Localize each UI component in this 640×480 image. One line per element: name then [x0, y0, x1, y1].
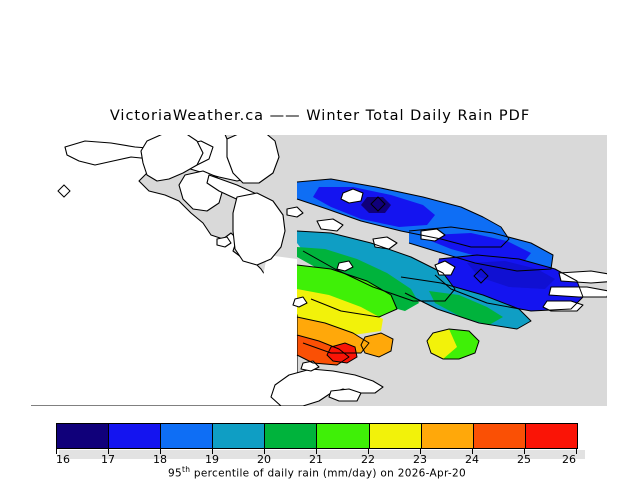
colorbar-ticks: 1617181920212223242526 [56, 449, 578, 463]
colorbar-legend: 1617181920212223242526 95th percentile o… [56, 423, 584, 480]
colorbar-swatch-25-26[interactable] [526, 424, 577, 448]
page-root: VictoriaWeather.ca —— Winter Total Daily… [0, 0, 640, 480]
colorbar-swatch-23-24[interactable] [422, 424, 474, 448]
page-title: VictoriaWeather.ca —— Winter Total Daily… [0, 108, 640, 124]
caption-rest: percentile of daily rain (mm/day) on 202… [190, 468, 466, 480]
colorbar-swatch-16-17[interactable] [57, 424, 109, 448]
colorbar-swatch-18-19[interactable] [161, 424, 213, 448]
colorbar-swatch-17-18[interactable] [109, 424, 161, 448]
weather-map-panel[interactable] [31, 135, 607, 406]
weather-map-svg[interactable] [31, 135, 607, 406]
colorbar-caption: 95th percentile of daily rain (mm/day) o… [56, 465, 578, 480]
colorbar-swatches[interactable] [56, 423, 578, 449]
colorbar-swatch-19-20[interactable] [213, 424, 265, 448]
land-east-spit-lower [549, 287, 607, 297]
colorbar-swatch-20-21[interactable] [265, 424, 317, 448]
caption-prefix: 95 [168, 468, 182, 480]
colorbar-swatch-22-23[interactable] [370, 424, 422, 448]
land-east-spit-upper [559, 271, 607, 283]
colorbar-tickmark-26 [576, 449, 577, 454]
colorbar-swatch-24-25[interactable] [474, 424, 526, 448]
colorbar-swatch-21-22[interactable] [317, 424, 369, 448]
